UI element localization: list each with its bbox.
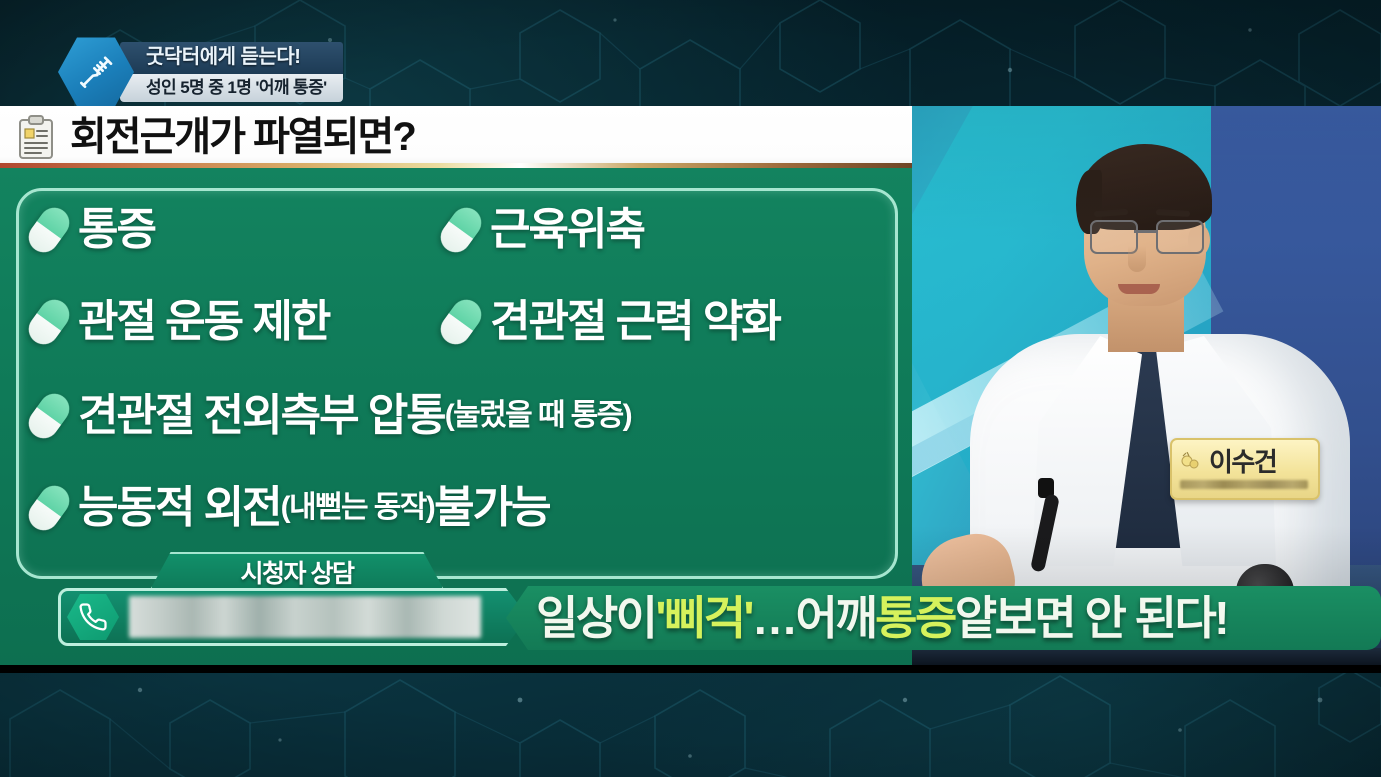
list-item: 견관절 근력 약화	[446, 298, 780, 346]
symptom-row: 관절 운동 제한 견관절 근력 약화	[34, 298, 886, 346]
symptom-row: 능동적 외전 (내뻗는 동작) 불가능	[34, 484, 886, 532]
symptom-label-post: 불가능	[434, 486, 549, 530]
program-badge-line2: 성인 5명 중 1명 '어깨 통증'	[120, 74, 343, 102]
list-item: 통증	[34, 206, 446, 254]
capsule-pill-icon	[23, 388, 75, 444]
symptom-label-note: (내뻗는 동작)	[281, 493, 435, 523]
video-panel: 이수건	[912, 106, 1381, 665]
capsule-pill-icon	[23, 294, 75, 350]
clipboard-icon	[16, 114, 56, 160]
headline-highlight2: 통증	[875, 595, 955, 641]
phone-icon	[67, 593, 119, 641]
viewer-consultation-label: 시청자 상담	[241, 554, 354, 590]
doctor-nose	[1128, 246, 1146, 272]
capsule-pill-icon	[23, 202, 75, 258]
symptom-row: 통증 근육위축	[34, 206, 886, 254]
headline-highlight1: '삐걱'	[655, 595, 752, 641]
bottom-black-bar	[0, 665, 1381, 673]
page-title: 회전근개가 파열되면?	[70, 117, 415, 157]
phone-number-redacted	[129, 596, 481, 638]
list-item: 견관절 전외측부 압통 (눌렀을 때 통증)	[34, 392, 631, 440]
symptom-label: 견관절 전외측부 압통	[78, 394, 445, 438]
headline-part3: 얕보면 안 된다!	[955, 595, 1227, 641]
list-item: 근육위축	[446, 206, 644, 254]
channel-logo-icon	[1180, 452, 1204, 472]
symptom-label: 통증	[78, 208, 155, 252]
consultation-phone-bar	[58, 588, 528, 646]
symptom-label: 견관절 근력 약화	[490, 300, 780, 344]
eyeglasses-icon	[1088, 220, 1204, 250]
title-accent-strip	[0, 163, 912, 168]
symptom-label: 근육위축	[490, 208, 644, 252]
title-bar: 회전근개가 파열되면?	[0, 106, 912, 168]
headline-part2: …어깨	[752, 595, 875, 641]
doctor-mouth	[1118, 284, 1160, 294]
headline-part1: 일상이	[536, 595, 655, 641]
capsule-pill-icon	[23, 480, 75, 536]
list-item: 능동적 외전 (내뻗는 동작) 불가능	[34, 484, 550, 532]
symptom-label-note: (눌렀을 때 통증)	[445, 401, 631, 431]
doctor-name: 이수건	[1209, 449, 1276, 475]
doctor-name-tag: 이수건	[1170, 438, 1320, 500]
doctor-figure: 이수건	[912, 106, 1381, 665]
doctor-credentials-blurred	[1180, 480, 1308, 489]
program-badge: 굿닥터에게 듣는다! 성인 5명 중 1명 '어깨 통증'	[58, 36, 343, 108]
program-badge-line1: 굿닥터에게 듣는다!	[120, 42, 343, 74]
viewer-consultation-tab: 시청자 상담	[150, 552, 444, 590]
headline-ticker: 일상이 '삐걱' …어깨 통증 얕보면 안 된다!	[506, 586, 1381, 650]
broadcast-screen: 굿닥터에게 듣는다! 성인 5명 중 1명 '어깨 통증' 회전근개가 파열되면…	[0, 0, 1381, 777]
video-bottom-strip	[912, 648, 1381, 665]
symptom-label-pre: 능동적 외전	[78, 486, 281, 530]
symptom-label: 관절 운동 제한	[78, 300, 329, 344]
symptom-row: 견관절 전외측부 압통 (눌렀을 때 통증)	[34, 392, 886, 440]
list-item: 관절 운동 제한	[34, 298, 446, 346]
